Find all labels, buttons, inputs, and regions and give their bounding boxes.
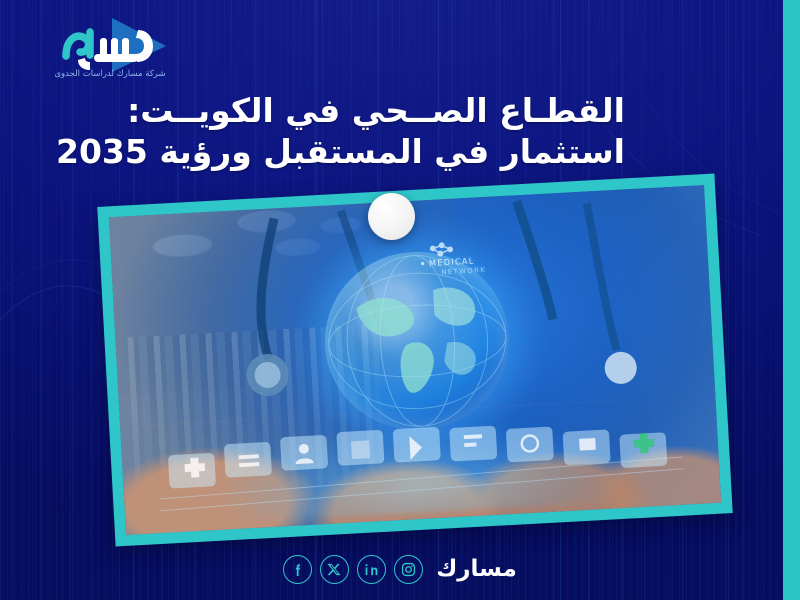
page-title: القطـاع الصــحي في الكويــت: استثمار في … bbox=[56, 92, 625, 170]
linkedin-icon bbox=[364, 562, 379, 577]
facebook-icon bbox=[290, 562, 306, 578]
medical-network-label: MEDICAL NETWORK bbox=[409, 239, 542, 284]
footer-brand-label: مسارك bbox=[436, 558, 517, 581]
headline-line-1: القطـاع الصــحي في الكويــت: bbox=[56, 92, 625, 130]
headline-line-2: استثمار في المستقبل ورؤية 2035 bbox=[56, 133, 625, 171]
x-twitter-link[interactable] bbox=[320, 555, 349, 584]
social-media-poster: شركة مسارك لدراسات الجدوى القطـاع الصــح… bbox=[0, 0, 800, 600]
footer-bar: مسارك bbox=[0, 555, 800, 584]
brand-logo[interactable]: شركة مسارك لدراسات الجدوى bbox=[16, 8, 206, 80]
logo-triangle-icon bbox=[112, 18, 166, 72]
photo-teal-frame: MEDICAL NETWORK bbox=[97, 174, 732, 547]
logo-tagline: شركة مسارك لدراسات الجدوى bbox=[54, 69, 165, 79]
hero-photo: MEDICAL NETWORK bbox=[109, 185, 721, 535]
x-icon bbox=[327, 562, 342, 577]
linkedin-link[interactable] bbox=[357, 555, 386, 584]
social-links bbox=[283, 555, 423, 584]
right-edge-accent-bar bbox=[783, 0, 800, 600]
photo-frame-wrapper: MEDICAL NETWORK bbox=[97, 174, 732, 547]
network-label-text: NETWORK bbox=[441, 266, 486, 276]
instagram-link[interactable] bbox=[394, 555, 423, 584]
decorative-white-circle bbox=[368, 193, 415, 240]
instagram-icon bbox=[401, 562, 416, 577]
facebook-link[interactable] bbox=[283, 555, 312, 584]
